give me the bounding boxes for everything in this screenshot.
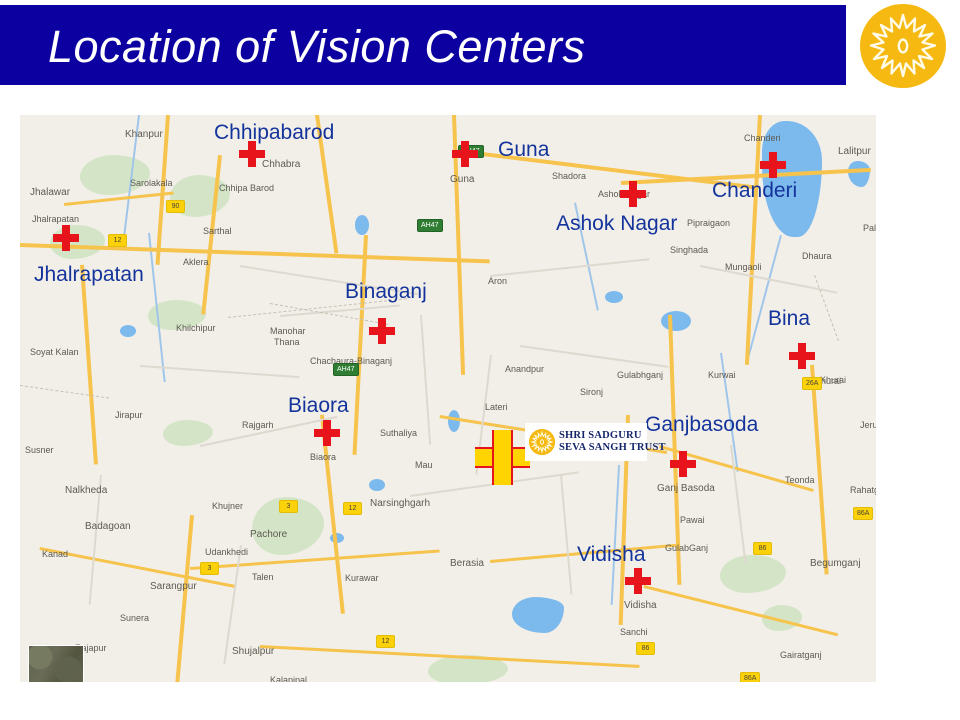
highway	[80, 265, 98, 465]
lake	[605, 291, 623, 303]
map-place-label: Manohar	[270, 326, 306, 336]
district-boundary	[814, 275, 839, 341]
terrain-patch	[720, 555, 786, 593]
highway-shield: 86	[636, 642, 655, 655]
highway-shield: 86A	[853, 507, 873, 520]
map-place-label: Suthaliya	[380, 428, 417, 438]
map-place-label: Kurawar	[345, 573, 379, 583]
map-place-label: Lateri	[485, 402, 508, 412]
river	[611, 465, 620, 605]
map-place-label: Udankhedi	[205, 547, 248, 557]
map-place-label: Narsinghgarh	[370, 498, 430, 509]
map-place-label: Singhada	[670, 245, 708, 255]
vision-center-label[interactable]: Chanderi	[712, 179, 797, 203]
lake	[369, 479, 385, 491]
map-place-label: Lalitpur	[838, 146, 871, 157]
map-place-label: Shadora	[552, 171, 586, 181]
map-place-label: Soyat Kalan	[30, 347, 79, 357]
map-place-label: Mungaoli	[725, 262, 762, 272]
map-place-label: Shujalpur	[232, 646, 274, 657]
map-place-label: Chanderi	[744, 133, 781, 143]
map-place-label: Khujner	[212, 501, 243, 511]
map-place-label: Talen	[252, 572, 274, 582]
map-place-label: Ganj Basoda	[657, 483, 715, 494]
vision-center-cross-icon[interactable]	[314, 420, 340, 446]
road	[730, 445, 747, 564]
map-place-label: Jirapur	[115, 410, 143, 420]
map-place-label: Dhaura	[802, 251, 832, 261]
map-place-label: Khilchipur	[176, 323, 216, 333]
highway-shield: 12	[343, 502, 362, 515]
map-place-label: Aron	[488, 276, 507, 286]
map-place-label: Kalapipal	[270, 675, 307, 682]
map-place-label: Guna	[450, 174, 474, 185]
highway	[175, 515, 194, 682]
lake	[512, 597, 564, 633]
highway-shield: 90	[166, 200, 185, 213]
map-place-label: Sanchi	[620, 627, 648, 637]
map-place-label: Sunera	[120, 613, 149, 623]
terrain-patch	[163, 420, 213, 446]
lake	[661, 311, 691, 331]
map-place-label: Aklera	[183, 257, 209, 267]
district-boundary	[20, 385, 109, 399]
highway-shield: 12	[108, 234, 127, 247]
map-place-label: Vidisha	[624, 600, 657, 611]
vision-center-label[interactable]: Chhipabarod	[214, 121, 334, 145]
road	[420, 315, 431, 445]
highway	[352, 235, 368, 455]
page-title: Location of Vision Centers	[48, 19, 586, 75]
lake	[355, 215, 369, 235]
highway-shield: 86A	[740, 672, 760, 682]
sun-logo-icon	[860, 4, 946, 88]
map-place-label: Rahatgarh	[850, 485, 876, 495]
trust-name-line1: SHRI SADGURU	[559, 430, 666, 442]
map-place-label: Nalkheda	[65, 485, 107, 496]
vision-center-label[interactable]: Jhalrapatan	[34, 263, 144, 287]
map-place-label: Chhipa Barod	[219, 183, 274, 193]
vision-center-cross-icon[interactable]	[670, 451, 696, 477]
map-place-label: Berasia	[450, 558, 484, 569]
trust-name: SHRI SADGURU SEVA SANGH TRUST	[559, 430, 666, 454]
highway-shield: 3	[200, 562, 219, 575]
vision-center-label[interactable]: Guna	[498, 138, 549, 162]
vision-center-cross-icon[interactable]	[53, 225, 79, 251]
map-place-label: Sarthal	[203, 226, 232, 236]
map-place-label: Pipraigaon	[687, 218, 730, 228]
vision-center-cross-icon[interactable]	[760, 152, 786, 178]
map-place-label: Badagoan	[85, 521, 131, 532]
road	[490, 258, 649, 277]
map-place-label: Mau	[415, 460, 433, 470]
title-bar: Location of Vision Centers	[0, 5, 846, 85]
lake	[120, 325, 136, 337]
map-place-label: Sironj	[580, 387, 603, 397]
headquarters-cross-icon[interactable]	[475, 430, 530, 485]
map-place-label: Rajgarh	[242, 420, 274, 430]
vision-center-label[interactable]: Ashok Nagar	[556, 212, 677, 236]
vision-center-label[interactable]: Bina	[768, 307, 810, 331]
map-place-label: Kanad	[42, 549, 68, 559]
highway-shield: 3	[279, 500, 298, 513]
vision-centers-map[interactable]: KhanpurChhabraChanderiLalitpurJhalawarSa…	[20, 115, 876, 682]
highway-shield: 86	[753, 542, 772, 555]
map-place-label: Pali	[863, 223, 876, 233]
map-place-label: Gulabhganj	[617, 370, 663, 380]
map-place-label: Biaora	[310, 452, 336, 462]
map-place-label: GulabGanj	[665, 543, 708, 553]
vision-center-label[interactable]: Binaganj	[345, 280, 427, 304]
highway-shield: 12	[376, 635, 395, 648]
satellite-thumbnail[interactable]	[28, 645, 84, 682]
trust-sun-icon	[529, 429, 555, 455]
map-place-label: Gairatganj	[780, 650, 822, 660]
trust-callout: SHRI SADGURU SEVA SANGH TRUST	[525, 423, 647, 461]
map-place-label: Khanpur	[125, 129, 163, 140]
vision-center-cross-icon[interactable]	[369, 318, 395, 344]
terrain-patch	[80, 155, 150, 195]
vision-center-cross-icon[interactable]	[789, 343, 815, 369]
map-place-label: Sarolakala	[130, 178, 173, 188]
map-place-label: Pawai	[680, 515, 705, 525]
highway-shield: AH47	[333, 363, 359, 376]
vision-center-cross-icon[interactable]	[452, 141, 478, 167]
vision-center-label[interactable]: Vidisha	[577, 543, 646, 567]
vision-center-cross-icon[interactable]	[620, 181, 646, 207]
map-place-label: Sarangpur	[150, 581, 197, 592]
trust-name-line2: SEVA SANGH TRUST	[559, 442, 666, 454]
map-place-label: Jhalrapatan	[32, 214, 79, 224]
map-place-label: Pachore	[250, 529, 287, 540]
map-place-label: Kurwai	[708, 370, 736, 380]
map-place-label: Jhalawar	[30, 187, 70, 198]
map-place-label: Anandpur	[505, 364, 544, 374]
vision-center-cross-icon[interactable]	[625, 568, 651, 594]
highway-shield: AH47	[417, 219, 443, 232]
map-place-label: Begumganj	[810, 558, 861, 569]
highway	[810, 365, 829, 575]
map-place-label: Chhabra	[262, 159, 300, 170]
highway-shield: 26A	[802, 377, 822, 390]
road	[560, 475, 572, 595]
vision-center-label[interactable]: Biaora	[288, 394, 349, 418]
map-place-label: Susner	[25, 445, 54, 455]
map-place-label: Jeru	[860, 420, 876, 430]
map-place-label: Thana	[274, 337, 300, 347]
map-place-label: Teonda	[785, 475, 815, 485]
lake	[848, 161, 870, 187]
